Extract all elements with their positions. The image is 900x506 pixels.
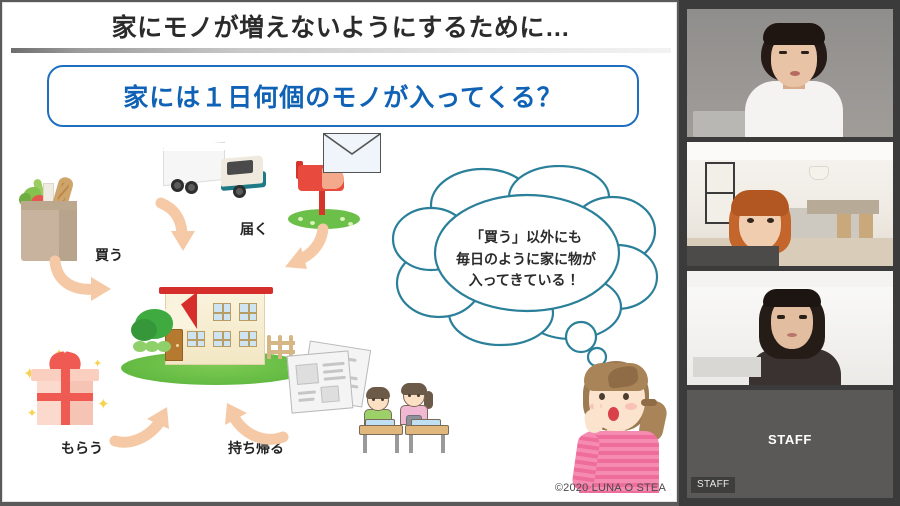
participant-fringe xyxy=(731,190,789,216)
newspaper-icon xyxy=(285,345,371,419)
participant-fringe xyxy=(763,23,825,45)
presentation-slide: 家にモノが増えないようにするために… 家には１日何個のモノが入ってくる？ 買う xyxy=(2,2,677,502)
participant-name-badge: STAFF xyxy=(691,477,735,493)
participant-torso xyxy=(745,81,843,137)
thinking-girl-illustration xyxy=(563,355,675,493)
video-off-placeholder-label: STAFF xyxy=(687,432,893,447)
label-receive: もらう xyxy=(61,438,103,458)
participant-mouth xyxy=(790,71,800,76)
students-icon xyxy=(361,383,457,459)
participant-mouth xyxy=(787,333,797,337)
participant-eye-right xyxy=(799,315,807,319)
arrow-truck-to-house xyxy=(155,199,203,259)
participant-eye-right xyxy=(801,51,809,54)
participant-eye-right xyxy=(767,218,774,223)
participant-eye-left xyxy=(777,315,785,319)
subtitle-text: 家には１日何個のモノが入ってくる？ xyxy=(123,78,563,114)
thought-bubble: 「買う」以外にも 毎日のように家に物が 入ってきている ！ xyxy=(391,165,661,367)
video-tile-participant-1[interactable] xyxy=(687,9,893,137)
copyright-notice: ©2020 LUNA O STEA xyxy=(555,482,666,494)
house-illustration xyxy=(121,277,311,389)
envelope-icon xyxy=(323,133,381,173)
arrow-buy-to-house xyxy=(51,257,121,305)
participant-eye-left xyxy=(779,51,787,54)
arrow-gift-to-house xyxy=(111,401,177,453)
video-participant-rail: STAFF STAFF xyxy=(679,0,900,506)
subtitle-callout-box: 家には１日何個のモノが入ってくる？ xyxy=(47,65,639,127)
grocery-bag-icon xyxy=(17,171,81,261)
flow-diagram: 買う 届く xyxy=(3,133,677,498)
ceiling xyxy=(687,142,893,160)
kitchen-island xyxy=(807,200,879,214)
participant-fringe xyxy=(763,289,821,307)
meeting-screen-share-view: 家にモノが増えないようにするために… 家には１日何個のモノが入ってくる？ 買う xyxy=(0,0,900,506)
laptop-in-frame xyxy=(693,357,761,377)
page-title: 家にモノが増えないようにするために… xyxy=(112,8,571,44)
video-tile-participant-staff[interactable]: STAFF STAFF xyxy=(687,390,893,498)
shared-screen-area[interactable]: 家にモノが増えないようにするために… 家には１日何個のモノが入ってくる？ 買う xyxy=(0,0,679,506)
video-tile-participant-2[interactable] xyxy=(687,142,893,266)
laptop-in-frame xyxy=(687,246,779,266)
video-tile-participant-3[interactable] xyxy=(687,271,893,385)
label-deliver: 届く xyxy=(240,219,268,239)
gift-box-icon: ✦✦ ✦✦✦ xyxy=(25,351,105,433)
delivery-truck-icon xyxy=(163,141,273,203)
participant-eye-left xyxy=(747,218,754,223)
thought-bubble-text: 「買う」以外にも 毎日のように家に物が 入ってきている ！ xyxy=(419,227,633,292)
pendant-lamp xyxy=(809,166,829,180)
arrow-bringhome-to-house xyxy=(213,397,289,449)
slide-title-bar: 家にモノが増えないようにするために… xyxy=(17,5,665,47)
title-divider xyxy=(11,48,671,53)
ceiling xyxy=(687,271,893,287)
arrow-mail-to-house xyxy=(275,225,331,285)
